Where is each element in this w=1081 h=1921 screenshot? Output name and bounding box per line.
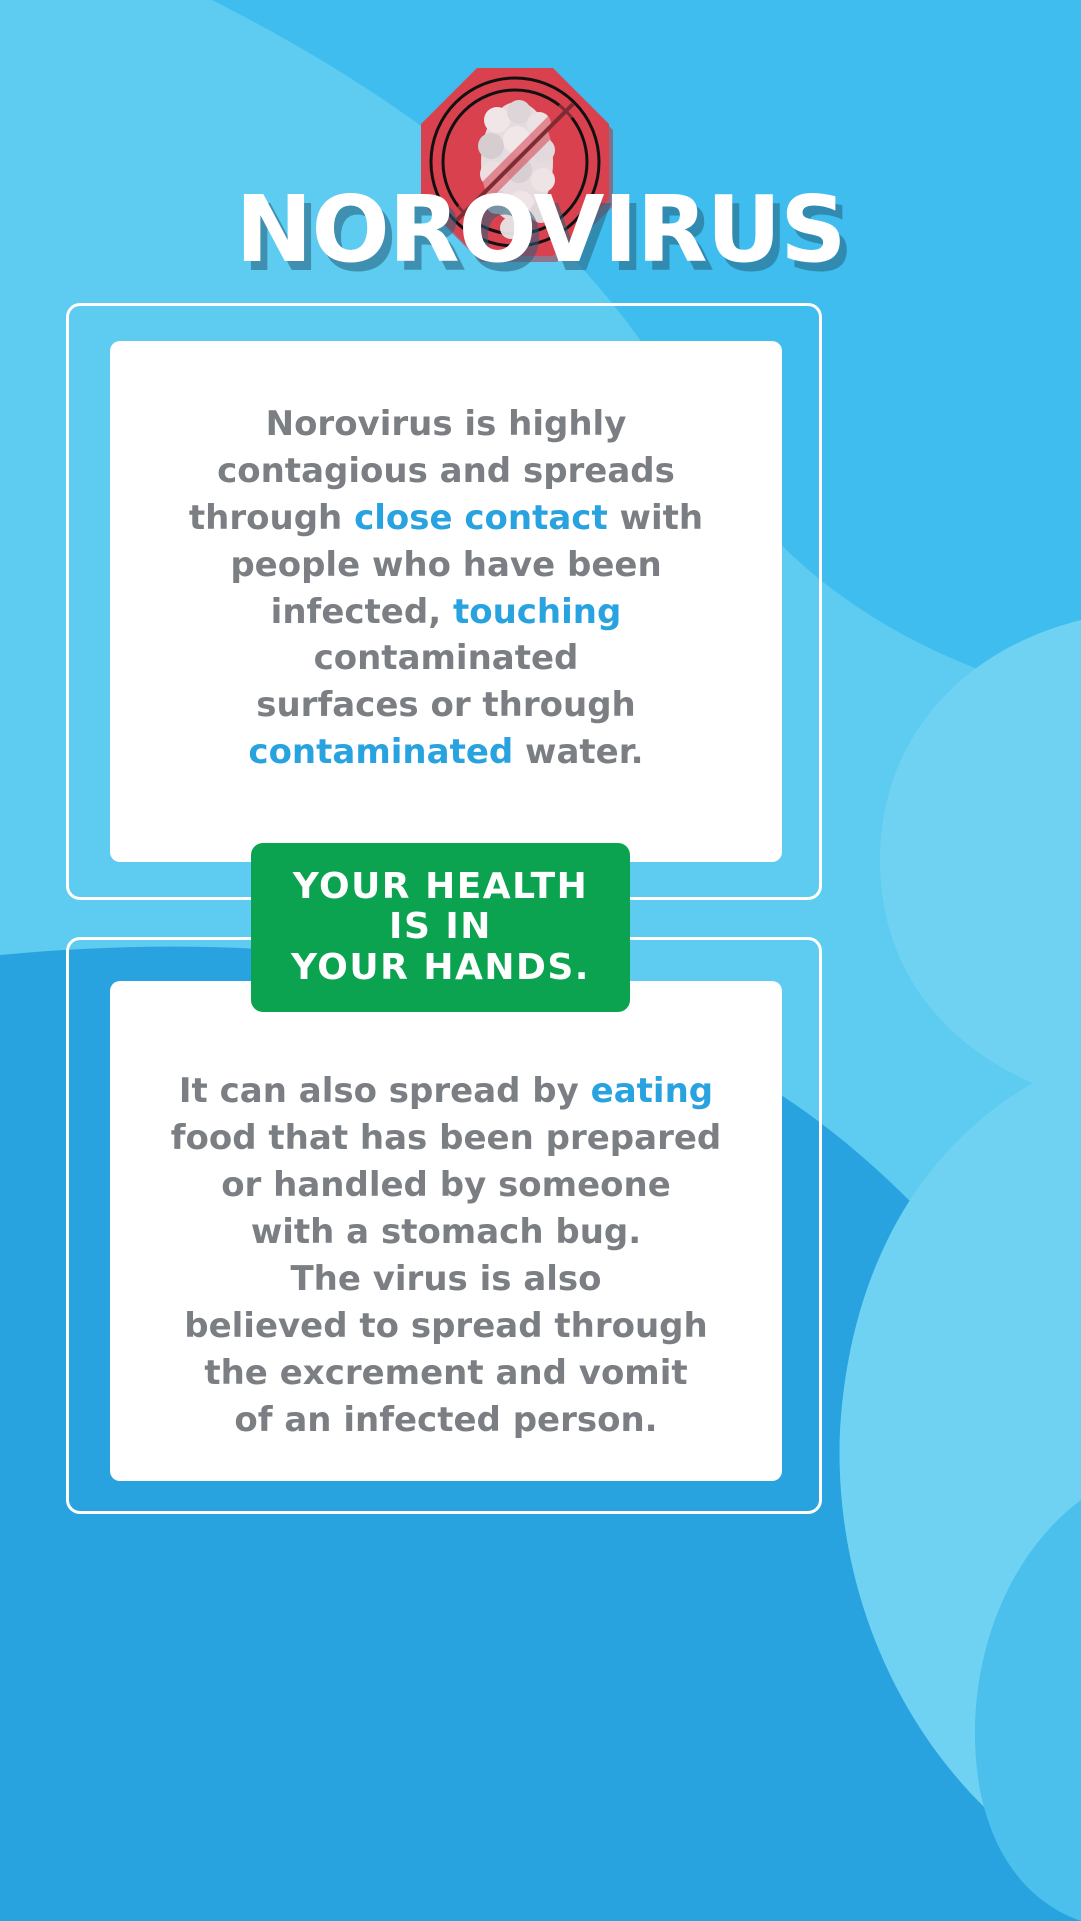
transmission-card: Norovirus is highlycontagious and spread… [110, 341, 782, 862]
text-run: food that has been prepared [171, 1118, 722, 1158]
text-run: the excrement and vomit [204, 1353, 687, 1393]
highlighted-phrase: close contact [354, 498, 608, 538]
highlighted-phrase: contaminated [248, 732, 513, 772]
text-run: or handled by someone [221, 1165, 671, 1205]
food-spread-card-text: It can also spread by eatingfood that ha… [171, 1068, 722, 1443]
text-run: people who have been [230, 545, 661, 585]
text-run: contagious and spreads [217, 451, 675, 491]
banner-line-3: YOUR HANDS. [291, 948, 590, 988]
highlighted-phrase: touching [453, 592, 621, 632]
health-slogan-banner: YOUR HEALTH IS IN YOUR HANDS. [251, 843, 630, 1012]
text-run: It can also spread by [179, 1071, 591, 1111]
text-run: believed to spread through [184, 1306, 707, 1346]
food-spread-card: It can also spread by eatingfood that ha… [110, 981, 782, 1481]
text-run: with [608, 498, 703, 538]
text-run: with a stomach bug. [251, 1212, 641, 1252]
text-run: contaminated [314, 638, 579, 678]
text-run: The virus is also [290, 1259, 601, 1299]
text-run: Norovirus is highly [266, 404, 627, 444]
banner-line-1: YOUR HEALTH [293, 867, 589, 907]
highlighted-phrase: eating [591, 1071, 713, 1111]
text-run: of an infected person. [234, 1400, 657, 1440]
norovirus-infographic: NOROVIRUS Norovirus is highlycontagious … [0, 0, 1081, 1921]
text-run: surfaces or through [256, 685, 636, 725]
text-run: through [189, 498, 354, 538]
banner-line-2: IS IN [389, 907, 492, 947]
transmission-card-text: Norovirus is highlycontagious and spread… [189, 401, 703, 776]
page-title: NOROVIRUS [0, 184, 1081, 276]
text-run: infected, [271, 592, 453, 632]
header: NOROVIRUS [0, 0, 1081, 300]
text-run: water. [513, 732, 643, 772]
